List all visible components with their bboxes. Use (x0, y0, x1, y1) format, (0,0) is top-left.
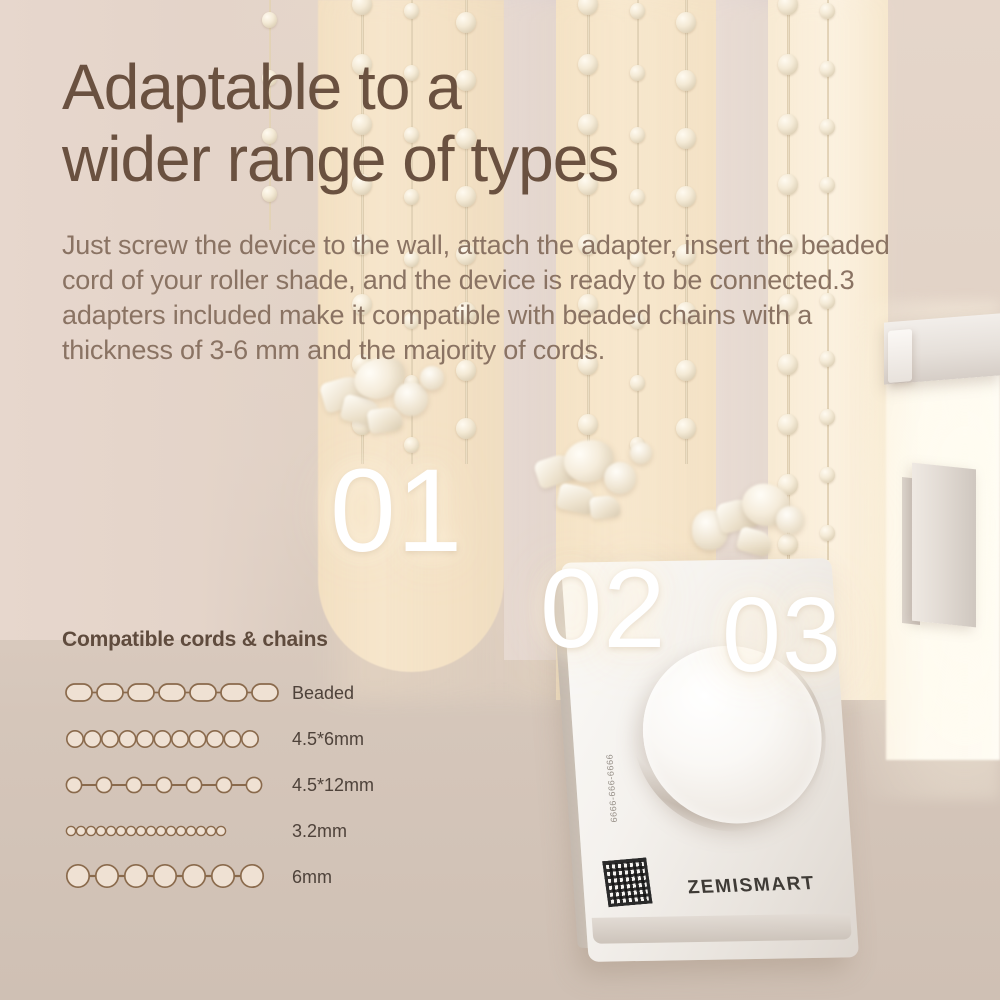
headline-line-1: Adaptable to a (62, 51, 461, 123)
chain-bead (820, 119, 835, 135)
chain-spaced-circles-icon (62, 770, 284, 800)
chain-bead (630, 3, 645, 19)
chain-bead (820, 525, 835, 541)
step-number-01: 01 (330, 452, 463, 570)
device-brand-logo: ZEMISMART (686, 873, 817, 899)
chain-bead (404, 3, 419, 19)
step-number-02: 02 (540, 553, 667, 665)
legend-label: 4.5*12mm (292, 775, 374, 796)
legend-label: 3.2mm (292, 821, 347, 842)
adapter-cluster-02 (534, 436, 664, 532)
qr-code-icon (602, 858, 652, 908)
legend-row: 4.5*6mm (62, 716, 482, 762)
chain-bead (778, 0, 798, 15)
legend-row: 6mm (62, 854, 482, 900)
chain-oval-link-icon (62, 678, 284, 708)
legend-label: 4.5*6mm (292, 729, 364, 750)
chain-bead (820, 3, 835, 19)
device-bottom-edge (592, 913, 852, 943)
chain-bead (820, 61, 835, 77)
chain-bead (676, 12, 696, 33)
step-number-03: 03 (722, 582, 842, 688)
chain-bead (778, 174, 798, 195)
chain-small-circles-icon (62, 724, 284, 754)
compatible-cords-legend: Compatible cords & chains Beaded4.5*6mm4… (62, 628, 482, 900)
chain-bead (456, 418, 476, 439)
legend-row: 4.5*12mm (62, 762, 482, 808)
chain-bead (778, 54, 798, 75)
legend-label: Beaded (292, 683, 354, 704)
headline-line-2: wider range of types (62, 124, 762, 196)
chain-tiny-circles-icon (62, 816, 284, 846)
chain-bead (778, 414, 798, 435)
chain-bead (778, 114, 798, 135)
chain-bead (676, 418, 696, 439)
chain-bead (820, 409, 835, 425)
headline: Adaptable to a wider range of types (62, 52, 762, 195)
chain-bead (456, 12, 476, 33)
chain-bead (820, 467, 835, 483)
body-paragraph: Just screw the device to the wall, attac… (62, 228, 924, 368)
chain-bead (820, 177, 835, 193)
product-marketing-image: 6666-666-6666 ZEMISMART 01 02 03 Adaptab… (0, 0, 1000, 1000)
chain-bead (630, 375, 645, 391)
legend-row: 3.2mm (62, 808, 482, 854)
blind-bracket (912, 463, 976, 628)
chain-bead (262, 12, 277, 28)
chain-bead (578, 0, 598, 15)
legend-label: 6mm (292, 867, 332, 888)
legend-title: Compatible cords & chains (62, 628, 482, 652)
chain-large-circles-icon (62, 862, 284, 892)
chain-bead (352, 0, 372, 15)
chain-bead (578, 414, 598, 435)
legend-row: Beaded (62, 670, 482, 716)
legend-rows: Beaded4.5*6mm4.5*12mm3.2mm6mm (62, 670, 482, 900)
